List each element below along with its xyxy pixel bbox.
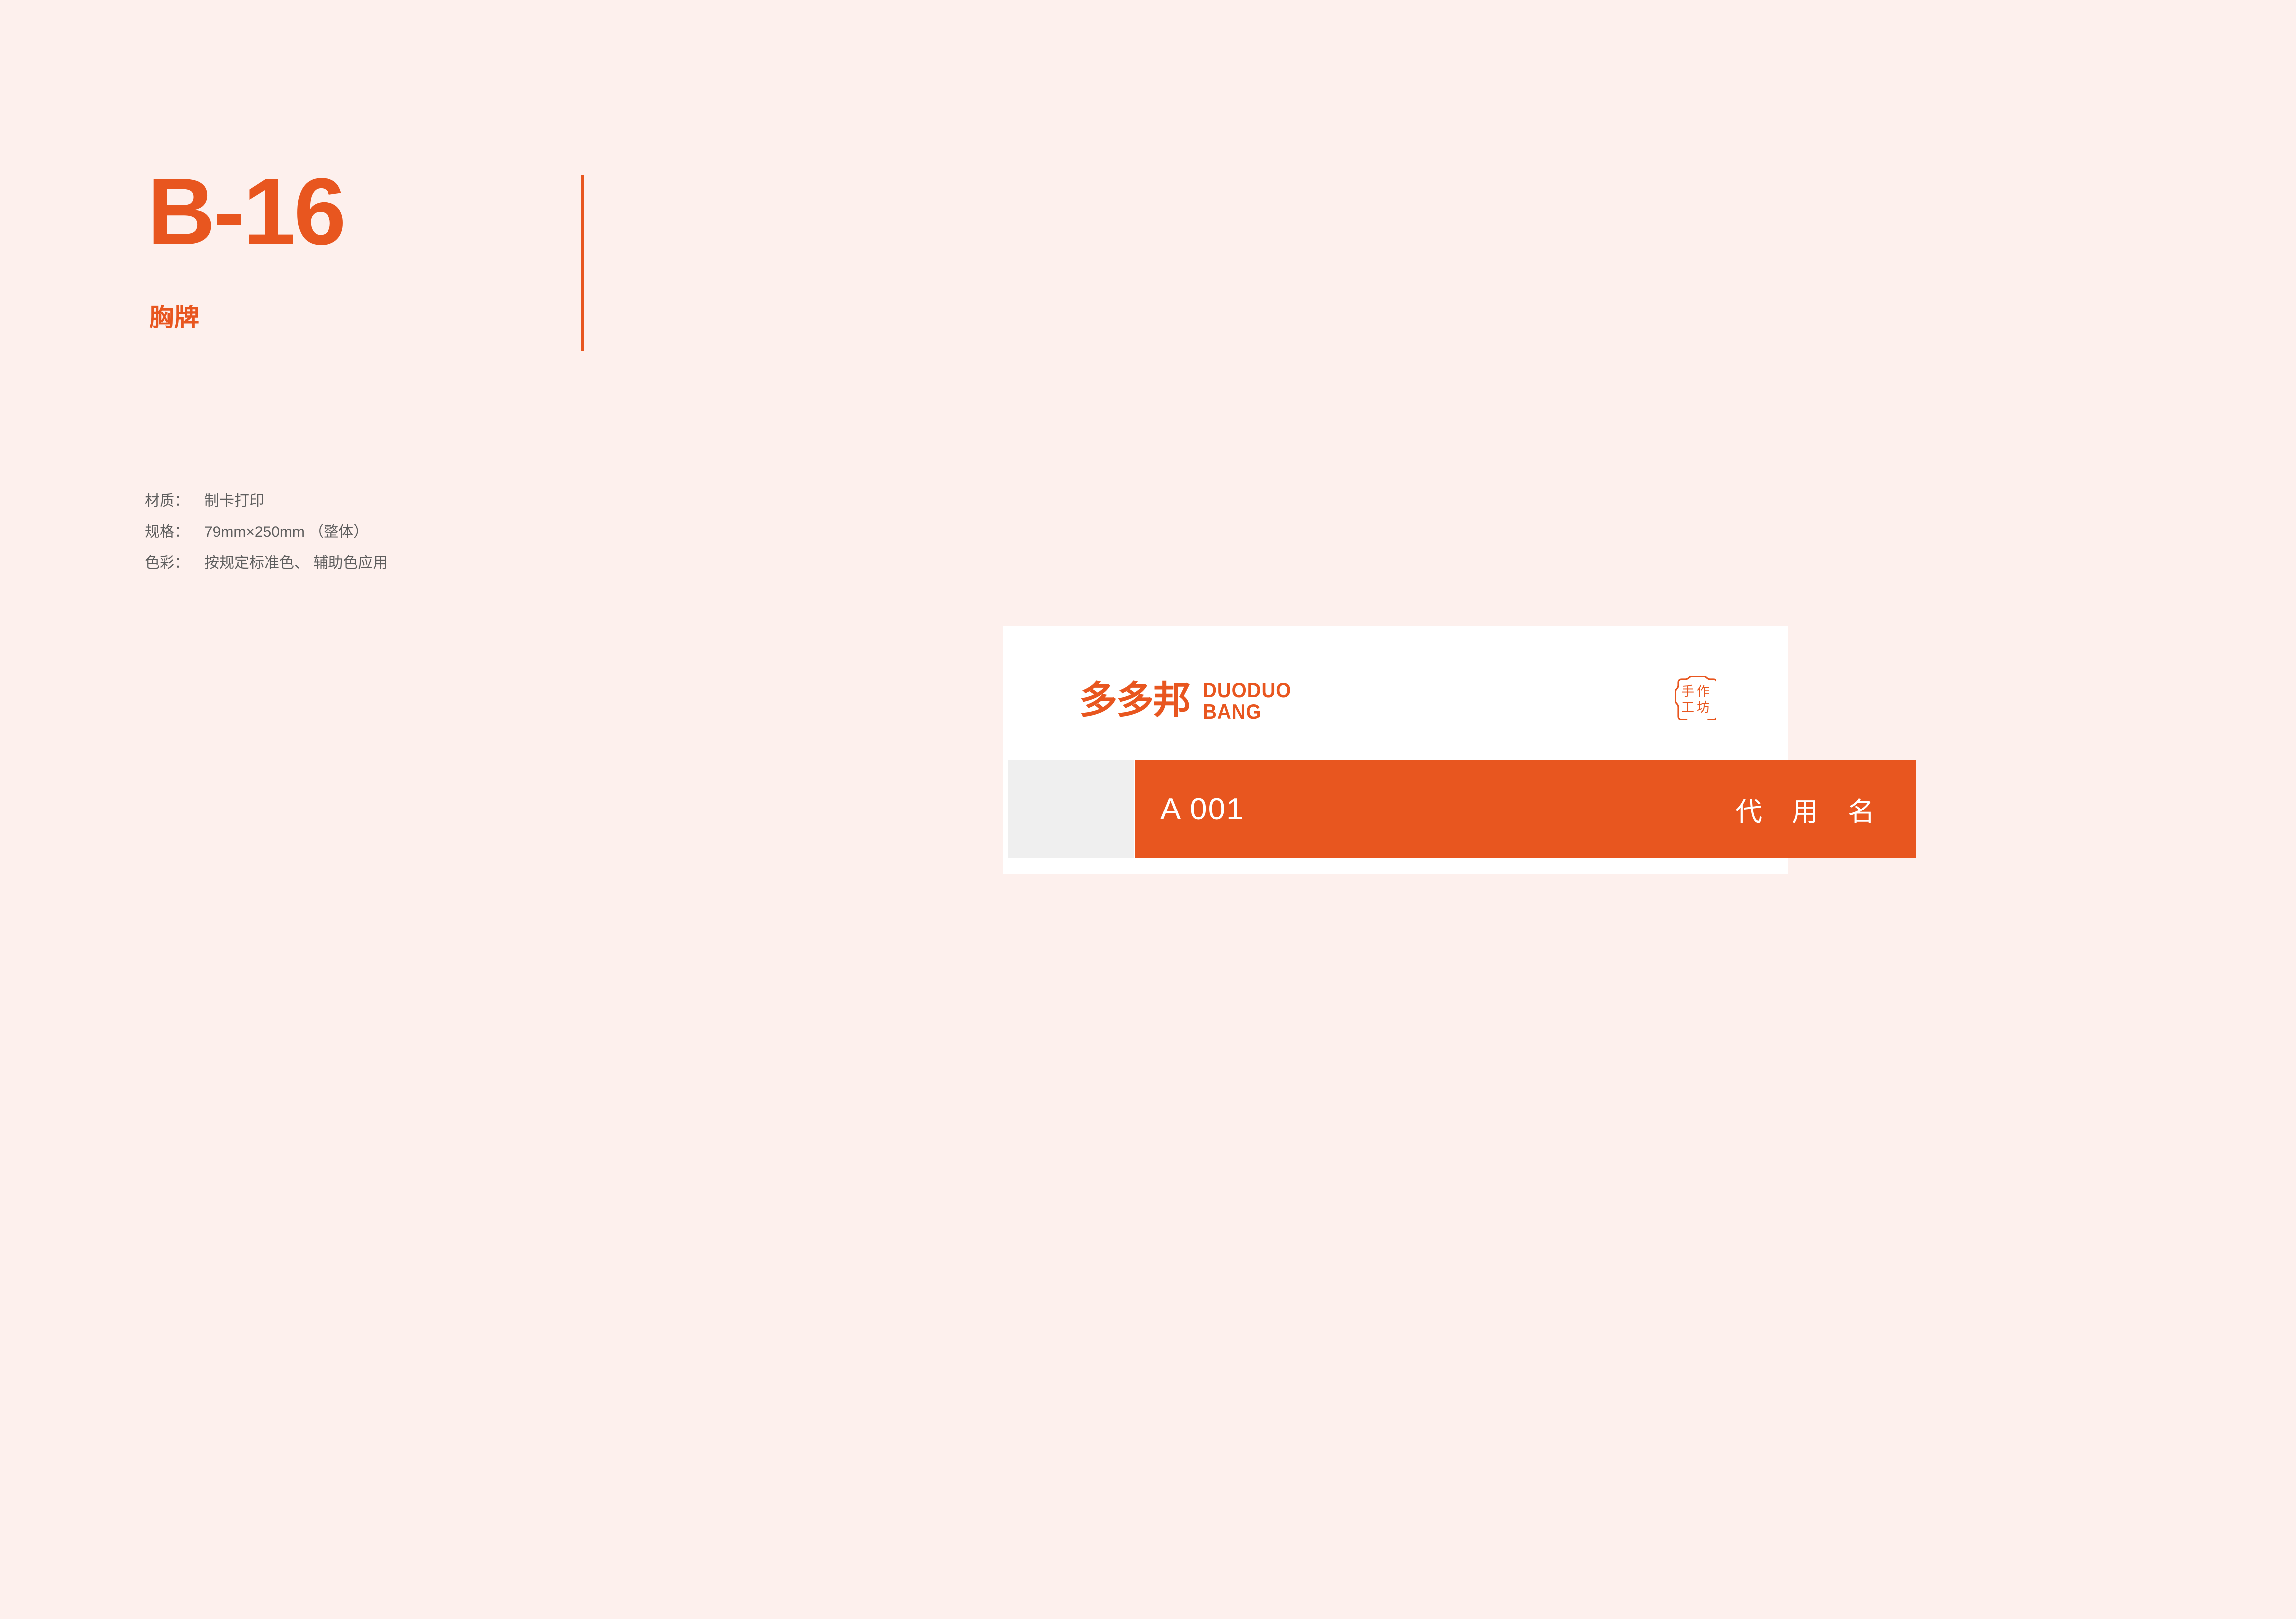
spec-label-material: 材质： (145, 486, 204, 517)
seal-stamp-icon: 手 作 工 坊 (1675, 676, 1716, 720)
page-header: B-16 胸牌 (147, 164, 596, 359)
brand-logotype-cn: 多多邦 (1079, 681, 1190, 719)
spec-label-color: 色彩： (145, 548, 204, 579)
spec-row-material: 材质： 制卡打印 (145, 486, 743, 517)
brand-en-line2: BANG (1203, 701, 1291, 722)
header-divider-rule (581, 175, 584, 351)
spec-row-size: 规格： 79mm×250mm （整体） (145, 517, 743, 548)
spec-value-size: 79mm×250mm （整体） (204, 517, 743, 548)
page-code: B-16 (147, 164, 344, 259)
svg-text:坊: 坊 (1697, 700, 1710, 715)
spec-value-material: 制卡打印 (204, 486, 743, 517)
spec-label-size: 规格： (145, 517, 204, 548)
brand-logotype-en: DUODUO BANG (1203, 679, 1299, 722)
brand-lockup: 多多邦 DUODUO BANG (1079, 678, 1299, 722)
badge-id-code: A 001 (1160, 760, 1245, 858)
badge-top-section: 多多邦 DUODUO BANG 手 作 工 坊 (1003, 626, 1788, 760)
page-subtitle: 胸牌 (149, 305, 200, 330)
svg-text:作: 作 (1697, 684, 1710, 699)
svg-text:手: 手 (1681, 684, 1694, 699)
badge-info-bar: A 001 代 用 名 (1135, 760, 1916, 858)
badge-photo-tab (1008, 760, 1134, 858)
spec-row-color: 色彩： 按规定标准色、 辅助色应用 (145, 548, 743, 579)
specification-list: 材质： 制卡打印 规格： 79mm×250mm （整体） 色彩： 按规定标准色、… (145, 486, 743, 579)
brand-en-line1: DUODUO (1203, 679, 1291, 701)
spec-value-color: 按规定标准色、 辅助色应用 (204, 548, 743, 579)
badge-name-field: 代 用 名 (1735, 760, 1886, 858)
svg-text:工: 工 (1681, 700, 1694, 715)
